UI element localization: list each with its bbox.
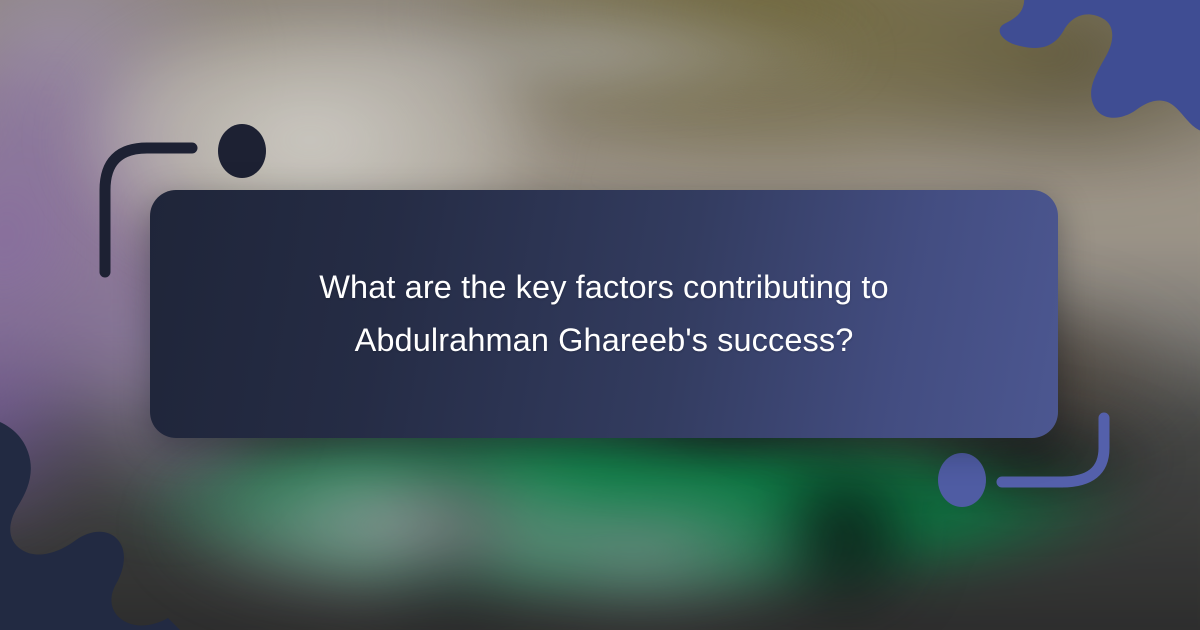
- accent-dot-top-left: [218, 124, 266, 178]
- accent-dot-bottom-right: [938, 453, 986, 507]
- og-card-canvas: What are the key factors contributing to…: [0, 0, 1200, 630]
- question-text: What are the key factors contributing to…: [254, 261, 954, 367]
- question-card: What are the key factors contributing to…: [150, 190, 1058, 438]
